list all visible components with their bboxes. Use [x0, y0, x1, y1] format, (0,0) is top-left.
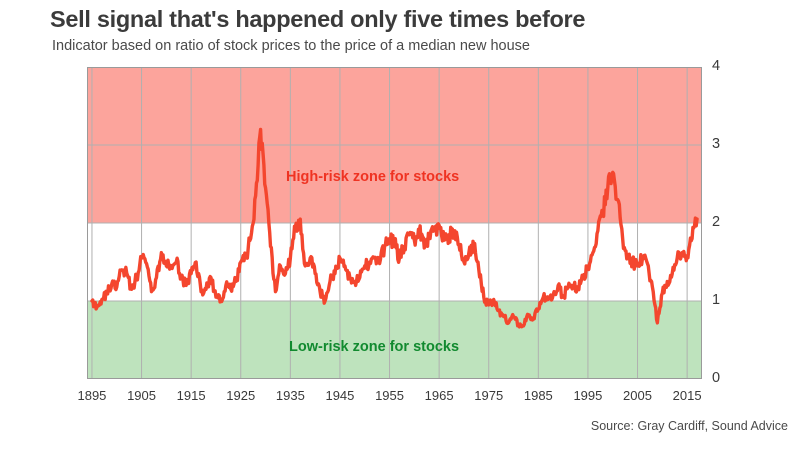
high-risk-zone-label: High-risk zone for stocks [286, 169, 459, 185]
x-axis-tick-label: 1925 [213, 388, 269, 403]
y-axis-tick-label: 4 [712, 58, 720, 74]
x-axis-tick-label: 1965 [411, 388, 467, 403]
x-axis-tick-label: 1905 [114, 388, 170, 403]
source-note: Source: Gray Cardiff, Sound Advice [591, 419, 788, 433]
plot-area [87, 67, 702, 379]
x-axis-tick-label: 1915 [163, 388, 219, 403]
chart-figure: Sell signal that's happened only five ti… [0, 0, 800, 450]
chart-canvas [87, 67, 702, 379]
x-axis-tick-label: 2005 [610, 388, 666, 403]
x-axis-tick-label: 1945 [312, 388, 368, 403]
y-axis-tick-label: 2 [712, 214, 720, 230]
x-axis-tick-label: 1975 [461, 388, 517, 403]
y-axis-tick-label: 1 [712, 292, 720, 308]
x-axis-tick-label: 1935 [262, 388, 318, 403]
x-axis-tick-label: 1955 [362, 388, 418, 403]
x-axis-tick-label: 1985 [510, 388, 566, 403]
x-axis-tick-label: 1895 [64, 388, 120, 403]
x-axis-tick-label: 1995 [560, 388, 616, 403]
y-axis-tick-label: 0 [712, 370, 720, 386]
x-axis-tick-label: 2015 [659, 388, 715, 403]
low-risk-zone-label: Low-risk zone for stocks [289, 339, 459, 355]
page-title: Sell signal that's happened only five ti… [50, 6, 585, 33]
y-axis-tick-label: 3 [712, 136, 720, 152]
chart-subtitle: Indicator based on ratio of stock prices… [52, 38, 530, 54]
